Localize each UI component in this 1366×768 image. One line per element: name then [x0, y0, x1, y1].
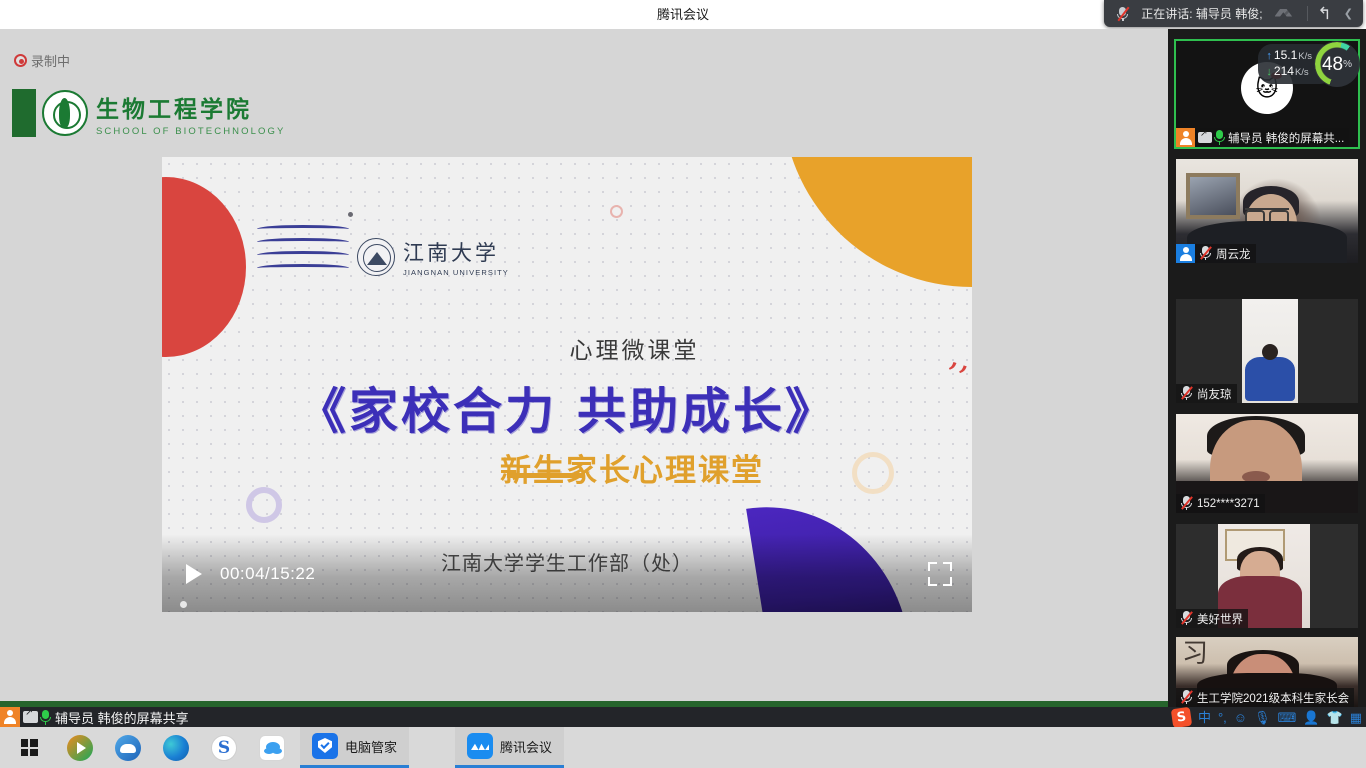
jnu-badge-icon [357, 238, 395, 276]
sogou-ime-toolbar[interactable]: S 中 °, ☺ 🎙 ⌨ 👤 👕 ▦ [1172, 707, 1362, 727]
participant-tile-2[interactable]: 周云龙 [1176, 159, 1358, 263]
taskbar-task-pc-manager[interactable]: 电脑管家 [300, 727, 409, 768]
share-screen-button[interactable] [1269, 0, 1303, 27]
taskbar-task-label: 电脑管家 [345, 737, 397, 756]
user-avatar-icon [0, 707, 20, 727]
upload-speed-row: ↑ 15.1 K/s [1266, 48, 1312, 64]
recording-dot-icon [14, 54, 27, 67]
decor-dot-gray [348, 212, 353, 217]
school-name-en: SCHOOL OF BIOTECHNOLOGY [96, 126, 285, 137]
participant-nameplate: 周云龙 [1176, 244, 1256, 263]
return-to-meeting-button[interactable]: ↰ [1312, 0, 1338, 27]
shared-video-slide[interactable]: ’’ 江南大学 JIANGNAN UNIVERSITY 心理微课堂 《家校合力 … [162, 157, 972, 612]
jnu-name-en: JIANGNAN UNIVERSITY [403, 268, 509, 277]
desktop-screen: 腾讯会议 正在讲话: 辅导员 韩俊; ↰ ❮ 录制中 [0, 0, 1366, 768]
speaking-status: 正在讲话: 辅导员 韩俊; [1135, 0, 1268, 27]
mic-on-icon [1215, 130, 1224, 145]
taskbar-task-tencent-meeting[interactable]: 腾讯会议 [455, 727, 564, 768]
mic-muted-icon [1180, 496, 1193, 511]
participant-nameplate: 辅导员 韩俊的屏幕共... [1176, 128, 1349, 147]
logo-green-bar [12, 89, 36, 137]
slide-title: 《家校合力 共助成长》 [162, 372, 972, 443]
tencent-pc-manager-icon [312, 733, 338, 759]
taskbar-quick-launch[interactable] [56, 727, 296, 768]
participant-name: 美好世界 [1197, 611, 1243, 627]
media-player-icon[interactable] [56, 727, 104, 768]
download-speed-unit: K/s [1295, 66, 1309, 80]
punctuation-icon[interactable]: °, [1218, 711, 1227, 724]
upload-speed-value: 15.1 [1274, 48, 1297, 62]
gauge-value: 48 [1322, 55, 1343, 74]
user-skin-icon[interactable]: 👤 [1303, 711, 1319, 724]
recording-indicator: 录制中 [14, 51, 70, 70]
recording-label: 录制中 [31, 51, 70, 70]
school-seal-icon [42, 90, 88, 136]
download-speed-row: ↓ 214 K/s [1266, 64, 1312, 80]
user-avatar-blue-icon [1176, 244, 1195, 263]
arrow-down-icon: ↓ [1266, 65, 1272, 79]
ime-tray-strip [0, 707, 1366, 727]
participant-nameplate: 美好世界 [1176, 609, 1248, 628]
participant-tile-4[interactable]: 152****3271 [1176, 414, 1358, 513]
mic-muted-icon [1180, 611, 1193, 626]
participant-rail[interactable]: 🐱 辅导员 韩俊的屏幕共... [1168, 29, 1366, 707]
participant-tile-6[interactable]: 习 生工学院2021级本科生家长会 [1176, 637, 1358, 707]
network-speed-overlay: ↑ 15.1 K/s ↓ 214 K/s 48% [1258, 41, 1360, 87]
participant-name: 辅导员 韩俊的屏幕共... [1228, 130, 1344, 146]
video-player-controls[interactable]: 00:04/15:22 [162, 534, 972, 612]
participant-nameplate: 尚友琼 [1176, 384, 1237, 403]
progress-handle[interactable] [180, 601, 187, 608]
mic-muted-icon [1116, 6, 1129, 22]
screen-share-icon [23, 711, 38, 723]
arrow-up-icon: ↑ [1266, 49, 1272, 63]
screen-share-icon [1275, 6, 1297, 21]
participant-name: 152****3271 [1197, 498, 1260, 510]
decor-ring-lavender [246, 487, 282, 523]
mic-on-icon [41, 710, 50, 725]
cloud-app-icon[interactable] [104, 727, 152, 768]
play-icon[interactable] [186, 564, 202, 584]
toolbar-divider [1307, 6, 1308, 21]
decor-dot-pink [610, 205, 623, 218]
school-logo: 生物工程学院 SCHOOL OF BIOTECHNOLOGY [12, 89, 285, 137]
undo-arrow-icon: ↰ [1318, 5, 1332, 22]
mic-muted-icon [1180, 386, 1193, 401]
school-name-cn: 生物工程学院 [96, 90, 285, 124]
tencent-meeting-icon [467, 733, 493, 759]
user-avatar-orange-icon [1176, 128, 1195, 147]
download-speed-value: 214 [1274, 64, 1294, 78]
collapse-toolbar-button[interactable]: ❮ [1338, 0, 1359, 27]
video-time-display: 00:04/15:22 [220, 564, 315, 584]
fullscreen-icon[interactable] [928, 562, 952, 586]
sogou-input-logo[interactable]: S [1171, 706, 1192, 727]
slide-subtitle: 新生家长心理课堂 [162, 445, 972, 490]
windows-taskbar[interactable]: 电脑管家 腾讯会议 🌙 9°C 晴朗 ∧ 📶 中 S 19:47 2021/1 [0, 727, 1366, 768]
app-grid-icon[interactable]: ▦ [1350, 711, 1362, 724]
screen-share-banner[interactable]: 辅导员 韩俊的屏幕共享 [0, 707, 199, 727]
mic-muted-icon [1199, 246, 1212, 261]
tshirt-skin-icon[interactable]: 👕 [1327, 711, 1343, 724]
shared-screen-area: 录制中 生物工程学院 SCHOOL OF BIOTECHNOLOGY [0, 29, 1168, 707]
participant-name: 生工学院2021级本科生家长会 [1197, 690, 1349, 706]
upload-speed-unit: K/s [1298, 50, 1312, 64]
screen-share-banner-label: 辅导员 韩俊的屏幕共享 [55, 708, 199, 727]
baidu-netdisk-icon[interactable] [248, 727, 296, 768]
school-logo-text: 生物工程学院 SCHOOL OF BIOTECHNOLOGY [96, 90, 285, 137]
mic-muted-icon [1180, 690, 1193, 705]
chinese-mode-icon[interactable]: 中 [1198, 711, 1211, 724]
screen-share-icon [1198, 132, 1212, 143]
keyboard-icon[interactable]: ⌨ [1278, 711, 1297, 724]
voice-input-icon[interactable]: 🎙 [1254, 711, 1271, 724]
participant-tile-3[interactable]: 尚友琼 [1176, 299, 1358, 403]
chevron-left-icon: ❮ [1344, 7, 1353, 20]
cpu-usage-gauge: 48% [1314, 41, 1360, 87]
slide-eyebrow: 心理微课堂 [162, 331, 972, 365]
participant-nameplate: 生工学院2021级本科生家长会 [1176, 688, 1354, 707]
jiangnan-university-logo: 江南大学 JIANGNAN UNIVERSITY [357, 237, 509, 277]
speaking-status-label: 正在讲话: 辅导员 韩俊; [1141, 5, 1262, 22]
participant-nameplate: 152****3271 [1176, 494, 1265, 513]
participant-name: 周云龙 [1216, 246, 1251, 262]
participant-tile-5[interactable]: 美好世界 [1176, 524, 1358, 628]
microsoft-edge-icon[interactable] [152, 727, 200, 768]
emoji-icon[interactable]: ☺ [1234, 711, 1247, 724]
decor-navy-waves [257, 225, 357, 285]
meeting-floating-toolbar[interactable]: 正在讲话: 辅导员 韩俊; ↰ ❮ [1104, 0, 1363, 27]
participant-name: 尚友琼 [1197, 386, 1232, 402]
taskbar-task-label: 腾讯会议 [500, 737, 552, 756]
jnu-name-cn: 江南大学 [403, 237, 509, 267]
mute-toggle-button[interactable] [1110, 0, 1135, 27]
windows-start-icon[interactable] [6, 727, 52, 768]
sogou-browser-icon[interactable] [200, 727, 248, 768]
